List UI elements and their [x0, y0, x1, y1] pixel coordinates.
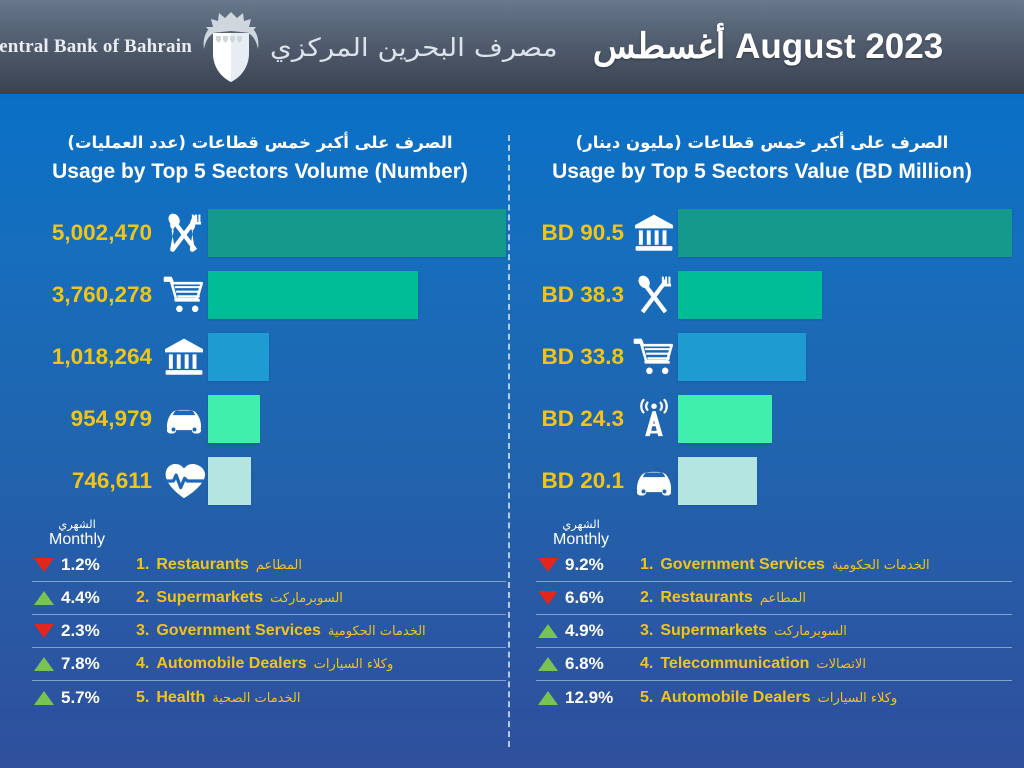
change-indicator: 12.9% — [536, 688, 628, 708]
bar-row: BD 20.1 — [512, 450, 1012, 512]
panel-volume-title-en: Usage by Top 5 Sectors Volume (Number) — [14, 159, 506, 184]
report-title: أغسطس August 2023 — [593, 27, 943, 67]
bar-value: BD 90.5 — [512, 220, 630, 246]
sector-name-en: Government Services — [660, 556, 825, 574]
bar-value: BD 24.3 — [512, 406, 630, 432]
sector-name-ar: الخدمات الحكومية — [832, 558, 930, 573]
sector-name-ar: السوبرماركت — [774, 624, 847, 639]
report-title-block: أغسطس August 2023 — [512, 0, 1024, 94]
bar-fill — [678, 395, 772, 443]
list-item: 4.9% 3. Supermarkets السوبرماركت — [536, 615, 1012, 648]
bar-value: 746,611 — [14, 468, 160, 494]
infographic-page: Central Bank of Bahrain — [0, 0, 1024, 768]
change-percent: 9.2% — [565, 555, 604, 575]
sector-rank: 3. — [640, 622, 653, 640]
page-header: Central Bank of Bahrain — [0, 0, 1024, 103]
change-percent: 5.7% — [61, 688, 100, 708]
change-indicator: 4.4% — [32, 588, 124, 608]
bar-row: 1,018,264 — [14, 326, 506, 388]
bar-fill — [208, 333, 269, 381]
change-indicator: 6.6% — [536, 588, 628, 608]
legend-heading: الشهري Monthly — [536, 518, 626, 550]
car-icon — [630, 457, 678, 505]
change-indicator: 5.7% — [32, 688, 124, 708]
antenna-icon — [630, 395, 678, 443]
legend-heading-ar: الشهري — [536, 518, 626, 531]
sector-label: 4. Telecommunication الاتصالات — [628, 655, 1012, 673]
arrow-down-icon — [34, 558, 54, 572]
sector-rank: 4. — [640, 655, 653, 673]
panel-volume-title-ar: الصرف على أكبر خمس قطاعات (عدد العمليات) — [14, 133, 506, 154]
bar-fill — [208, 271, 418, 319]
legend-heading: الشهري Monthly — [32, 518, 122, 550]
heartbeat-icon — [160, 457, 208, 505]
list-item: 6.8% 4. Telecommunication الاتصالات — [536, 648, 1012, 681]
content-area: الصرف على أكبر خمس قطاعات (عدد العمليات)… — [0, 103, 1024, 768]
bar-value: 3,760,278 — [14, 282, 160, 308]
arrow-up-icon — [34, 691, 54, 705]
change-percent: 6.8% — [565, 654, 604, 674]
bar-value: 1,018,264 — [14, 344, 160, 370]
sector-rank: 5. — [136, 689, 149, 707]
arrow-up-icon — [538, 691, 558, 705]
sector-name-en: Automobile Dealers — [660, 689, 810, 707]
bar-value: 954,979 — [14, 406, 160, 432]
change-percent: 1.2% — [61, 555, 100, 575]
arrow-up-icon — [538, 657, 558, 671]
sector-name-en: Telecommunication — [660, 655, 809, 673]
panel-volume-bars: 5,002,470 3,760,278 — [14, 202, 506, 512]
sector-rank: 5. — [640, 689, 653, 707]
list-item: 12.9% 5. Automobile Dealers وكلاء السيار… — [536, 681, 1012, 714]
bar-track — [208, 395, 506, 443]
bar-track — [678, 457, 1012, 505]
shopping-cart-icon — [160, 271, 208, 319]
cutlery-icon — [160, 209, 208, 257]
change-indicator: 2.3% — [32, 621, 124, 641]
bar-fill — [678, 457, 757, 505]
bar-track — [678, 271, 1012, 319]
panel-value-header: الصرف على أكبر خمس قطاعات (مليون دينار) … — [512, 103, 1012, 184]
change-indicator: 1.2% — [32, 555, 124, 575]
sector-rank: 2. — [136, 589, 149, 607]
arrow-up-icon — [34, 657, 54, 671]
bar-fill — [678, 271, 822, 319]
bar-row: BD 33.8 — [512, 326, 1012, 388]
change-indicator: 9.2% — [536, 555, 628, 575]
list-item: 4.4% 2. Supermarkets السوبرماركت — [32, 582, 506, 615]
cutlery-icon — [630, 271, 678, 319]
panel-volume: الصرف على أكبر خمس قطاعات (عدد العمليات)… — [14, 103, 506, 768]
change-percent: 6.6% — [565, 588, 604, 608]
arrow-down-icon — [34, 624, 54, 638]
sector-name-en: Health — [156, 689, 205, 707]
bank-icon — [160, 333, 208, 381]
sector-label: 4. Automobile Dealers وكلاء السيارات — [124, 655, 506, 673]
sector-label: 1. Government Services الخدمات الحكومية — [628, 556, 1012, 574]
list-item: 1.2% 1. Restaurants المطاعم — [32, 549, 506, 582]
change-percent: 4.4% — [61, 588, 100, 608]
list-item: 2.3% 3. Government Services الخدمات الحك… — [32, 615, 506, 648]
change-indicator: 6.8% — [536, 654, 628, 674]
bar-value: BD 33.8 — [512, 344, 630, 370]
sector-label: 1. Restaurants المطاعم — [124, 556, 506, 574]
sector-name-ar: المطاعم — [256, 558, 302, 573]
sector-label: 2. Supermarkets السوبرماركت — [124, 589, 506, 607]
shopping-cart-icon — [630, 333, 678, 381]
panel-value-legend: الشهري Monthly 9.2% 1. Government Servic… — [512, 518, 1012, 715]
bar-fill — [208, 457, 251, 505]
bar-row: BD 38.3 — [512, 264, 1012, 326]
sector-name-ar: الاتصالات — [816, 657, 866, 672]
list-item: 9.2% 1. Government Services الخدمات الحك… — [536, 549, 1012, 582]
panel-divider — [508, 135, 510, 747]
sector-label: 3. Government Services الخدمات الحكومية — [124, 622, 506, 640]
list-item: 5.7% 5. Health الخدمات الصحية — [32, 681, 506, 714]
sector-name-ar: الخدمات الصحية — [212, 691, 300, 706]
sector-name-en: Automobile Dealers — [156, 655, 306, 673]
arrow-down-icon — [538, 591, 558, 605]
cbb-logo: Central Bank of Bahrain — [0, 0, 512, 94]
sector-name-ar: وكلاء السيارات — [818, 691, 898, 706]
panel-volume-header: الصرف على أكبر خمس قطاعات (عدد العمليات)… — [14, 103, 506, 184]
change-percent: 12.9% — [565, 688, 613, 708]
arrow-up-icon — [34, 591, 54, 605]
sector-name-en: Supermarkets — [660, 622, 767, 640]
change-percent: 4.9% — [565, 621, 604, 641]
bar-track — [678, 333, 1012, 381]
bank-name-en: Central Bank of Bahrain — [0, 36, 192, 58]
bar-track — [208, 457, 506, 505]
sector-rank: 1. — [136, 556, 149, 574]
sector-label: 3. Supermarkets السوبرماركت — [628, 622, 1012, 640]
bar-row: BD 90.5 — [512, 202, 1012, 264]
sector-label: 2. Restaurants المطاعم — [628, 589, 1012, 607]
change-percent: 2.3% — [61, 621, 100, 641]
change-percent: 7.8% — [61, 654, 100, 674]
bar-row: 746,611 — [14, 450, 506, 512]
sector-rank: 3. — [136, 622, 149, 640]
sector-name-en: Government Services — [156, 622, 321, 640]
sector-label: 5. Automobile Dealers وكلاء السيارات — [628, 689, 1012, 707]
sector-name-ar: المطاعم — [760, 591, 806, 606]
panel-value: الصرف على أكبر خمس قطاعات (مليون دينار) … — [512, 103, 1012, 768]
bar-row: 3,760,278 — [14, 264, 506, 326]
bar-fill — [208, 395, 260, 443]
legend-heading-en: Monthly — [536, 531, 626, 549]
sector-name-en: Supermarkets — [156, 589, 263, 607]
bar-value: 5,002,470 — [14, 220, 160, 246]
change-indicator: 4.9% — [536, 621, 628, 641]
bar-value: BD 38.3 — [512, 282, 630, 308]
legend-heading-ar: الشهري — [32, 518, 122, 531]
header-accent-strip — [0, 94, 1024, 103]
sector-rank: 2. — [640, 589, 653, 607]
change-indicator: 7.8% — [32, 654, 124, 674]
bar-row: BD 24.3 — [512, 388, 1012, 450]
bar-row: 5,002,470 — [14, 202, 506, 264]
car-icon — [160, 395, 208, 443]
sector-name-en: Restaurants — [660, 589, 752, 607]
arrow-up-icon — [538, 624, 558, 638]
sector-rank: 4. — [136, 655, 149, 673]
bar-fill — [678, 209, 1012, 257]
panel-value-bars: BD 90.5 BD 38.3 — [512, 202, 1012, 512]
list-item: 7.8% 4. Automobile Dealers وكلاء السيارا… — [32, 648, 506, 681]
bar-track — [678, 209, 1012, 257]
legend-heading-en: Monthly — [32, 531, 122, 549]
sector-name-ar: السوبرماركت — [270, 591, 343, 606]
panel-value-title-en: Usage by Top 5 Sectors Value (BD Million… — [512, 159, 1012, 184]
bar-fill — [678, 333, 806, 381]
bar-track — [208, 271, 506, 319]
bar-value: BD 20.1 — [512, 468, 630, 494]
sector-name-ar: وكلاء السيارات — [314, 657, 394, 672]
sector-name-ar: الخدمات الحكومية — [328, 624, 426, 639]
bar-track — [678, 395, 1012, 443]
bahrain-coat-of-arms-icon — [200, 9, 262, 85]
bar-track — [208, 333, 506, 381]
sector-label: 5. Health الخدمات الصحية — [124, 689, 506, 707]
bank-icon — [630, 209, 678, 257]
sector-rank: 1. — [640, 556, 653, 574]
panel-volume-legend: الشهري Monthly 1.2% 1. Restaurants المطا… — [14, 518, 506, 715]
arrow-down-icon — [538, 558, 558, 572]
bar-fill — [208, 209, 506, 257]
bar-row: 954,979 — [14, 388, 506, 450]
list-item: 6.6% 2. Restaurants المطاعم — [536, 582, 1012, 615]
sector-name-en: Restaurants — [156, 556, 248, 574]
panel-value-title-ar: الصرف على أكبر خمس قطاعات (مليون دينار) — [512, 133, 1012, 154]
bar-track — [208, 209, 506, 257]
